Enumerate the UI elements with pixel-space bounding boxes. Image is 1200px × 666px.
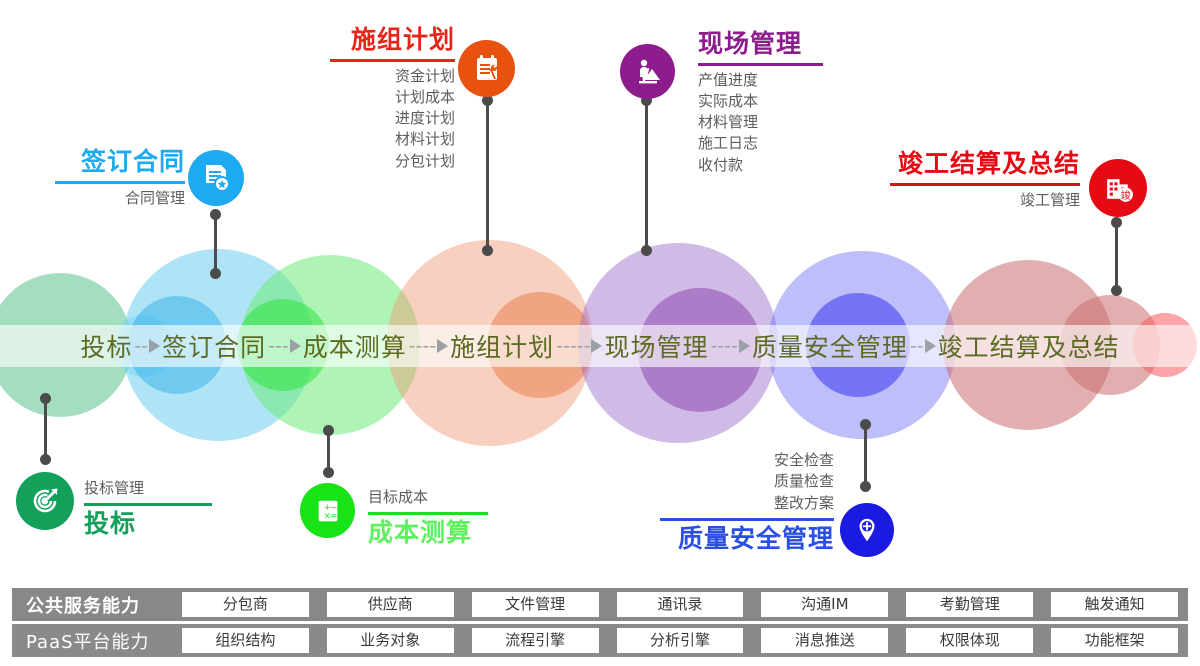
callout-contract[interactable]: 签订合同 合同管理: [55, 148, 185, 209]
callout-quality-items: 安全检查质量检查整改方案: [660, 450, 834, 514]
connector-dot-plan-bottom: [482, 245, 493, 256]
svg-text:竣: 竣: [1120, 188, 1130, 201]
capability-cell-1-1[interactable]: 业务对象: [327, 628, 454, 653]
contract-document-icon[interactable]: [188, 150, 244, 206]
capability-cell-0-3[interactable]: 通讯录: [617, 592, 744, 617]
callout-cost-rule: [368, 512, 488, 515]
callout-plan[interactable]: 施组计划 资金计划计划成本进度计划材料计划分包计划: [330, 26, 455, 172]
callout-quality-item-0: 安全检查: [660, 450, 834, 471]
infographic-canvas: 投标--签订合同---成本测算----施组计划-----现场管理----质量安全…: [0, 0, 1200, 666]
flow-arrow-0: --: [132, 335, 162, 357]
capability-cell-0-0[interactable]: 分包商: [182, 592, 309, 617]
capability-cells-1: 组织结构业务对象流程引擎分析引擎消息推送权限体现功能框架: [182, 628, 1188, 653]
connector-dot-bidding-bottom: [40, 454, 51, 465]
capability-cell-1-2[interactable]: 流程引擎: [472, 628, 599, 653]
callout-quality-item-2: 整改方案: [660, 493, 834, 514]
connector-line-cost: [327, 430, 330, 472]
callout-completion-title: 竣工结算及总结: [890, 150, 1080, 178]
callout-cost-sub: 目标成本: [368, 487, 488, 508]
flow-arrow-3: -----: [554, 335, 604, 357]
process-flow-row: 投标--签订合同---成本测算----施组计划-----现场管理----质量安全…: [0, 325, 1200, 367]
capability-row-label-1: PaaS平台能力: [12, 628, 182, 654]
flow-step-4[interactable]: 现场管理: [604, 328, 708, 364]
flow-step-1[interactable]: 签订合同: [162, 328, 266, 364]
callout-quality-item-1: 质量检查: [660, 471, 834, 492]
capability-cell-1-5[interactable]: 权限体现: [906, 628, 1033, 653]
capability-table: 公共服务能力分包商供应商文件管理通讯录沟通IM考勤管理触发通知PaaS平台能力组…: [12, 588, 1188, 660]
connector-dot-contract-bottom: [210, 268, 221, 279]
callout-plan-item-1: 计划成本: [330, 87, 455, 108]
flow-step-3[interactable]: 施组计划: [450, 328, 554, 364]
capability-cell-0-2[interactable]: 文件管理: [472, 592, 599, 617]
connector-line-bidding: [44, 398, 47, 460]
connector-dot-site-bottom: [641, 245, 652, 256]
callout-bidding-rule: [84, 503, 212, 506]
calculator-icon[interactable]: + − × =: [300, 483, 355, 538]
callout-site-rule: [698, 63, 823, 66]
callout-site-title: 现场管理: [698, 30, 823, 58]
connector-line-plan: [486, 100, 489, 252]
capability-row-label-0: 公共服务能力: [12, 592, 182, 618]
callout-site-item-1: 实际成本: [698, 91, 823, 112]
capability-cell-0-6[interactable]: 触发通知: [1051, 592, 1178, 617]
connector-line-completion: [1115, 222, 1118, 290]
connector-dot-completion-top: [1111, 217, 1122, 228]
flow-arrow-2: ----: [407, 335, 450, 357]
svg-text:=: =: [330, 510, 337, 520]
connector-dot-bidding-top: [40, 393, 51, 404]
worker-site-icon[interactable]: [620, 44, 675, 99]
capability-cell-0-5[interactable]: 考勤管理: [906, 592, 1033, 617]
callout-contract-item-0: 合同管理: [55, 188, 185, 209]
capability-cell-0-1[interactable]: 供应商: [327, 592, 454, 617]
flow-step-2[interactable]: 成本测算: [303, 328, 407, 364]
connector-line-contract: [214, 214, 217, 274]
callout-site-item-0: 产值进度: [698, 70, 823, 91]
connector-dot-quality-top: [860, 419, 871, 430]
callout-completion-item-0: 竣工管理: [890, 190, 1080, 211]
callout-site[interactable]: 现场管理 产值进度实际成本材料管理施工日志收付款: [698, 30, 823, 176]
callout-quality[interactable]: 安全检查质量检查整改方案 质量安全管理: [660, 450, 834, 552]
capability-cell-1-0[interactable]: 组织结构: [182, 628, 309, 653]
building-complete-icon[interactable]: 竣: [1089, 159, 1147, 217]
callout-quality-title: 质量安全管理: [660, 525, 834, 553]
connector-dot-cost-bottom: [323, 467, 334, 478]
flow-arrow-4: ----: [708, 335, 751, 357]
capability-cells-0: 分包商供应商文件管理通讯录沟通IM考勤管理触发通知: [182, 592, 1188, 617]
callout-plan-items: 资金计划计划成本进度计划材料计划分包计划: [330, 66, 455, 172]
target-dart-icon[interactable]: [16, 472, 74, 530]
flow-arrow-1: ---: [266, 335, 303, 357]
callout-contract-items: 合同管理: [55, 188, 185, 209]
connector-line-quality: [864, 424, 867, 486]
capability-cell-1-4[interactable]: 消息推送: [761, 628, 888, 653]
callout-bidding[interactable]: 投标管理 投标: [84, 478, 212, 538]
callout-completion[interactable]: 竣工结算及总结 竣工管理: [890, 150, 1080, 211]
capability-cell-1-3[interactable]: 分析引擎: [617, 628, 744, 653]
connector-dot-cost-top: [323, 425, 334, 436]
callout-quality-rule: [660, 518, 834, 521]
callout-site-item-3: 施工日志: [698, 133, 823, 154]
callout-bidding-title: 投标: [84, 510, 212, 538]
callout-plan-title: 施组计划: [330, 26, 455, 54]
capability-cell-0-4[interactable]: 沟通IM: [761, 592, 888, 617]
callout-plan-item-4: 分包计划: [330, 151, 455, 172]
callout-cost-title: 成本测算: [368, 519, 488, 547]
clipboard-wrench-icon[interactable]: [458, 40, 515, 97]
callout-site-items: 产值进度实际成本材料管理施工日志收付款: [698, 70, 823, 176]
callout-plan-rule: [330, 59, 455, 62]
callout-plan-item-3: 材料计划: [330, 129, 455, 150]
callout-completion-rule: [890, 183, 1080, 186]
callout-plan-item-0: 资金计划: [330, 66, 455, 87]
connector-line-site: [645, 100, 648, 252]
flow-step-0[interactable]: 投标: [80, 328, 132, 364]
capability-row-0: 公共服务能力分包商供应商文件管理通讯录沟通IM考勤管理触发通知: [12, 588, 1188, 621]
flow-step-6[interactable]: 竣工结算及总结: [938, 328, 1120, 364]
callout-site-item-4: 收付款: [698, 155, 823, 176]
callout-cost[interactable]: 目标成本 成本测算: [368, 487, 488, 547]
flow-arrow-5: --: [908, 335, 938, 357]
capability-row-1: PaaS平台能力组织结构业务对象流程引擎分析引擎消息推送权限体现功能框架: [12, 624, 1188, 657]
capability-cell-1-6[interactable]: 功能框架: [1051, 628, 1178, 653]
flow-step-5[interactable]: 质量安全管理: [752, 328, 908, 364]
callout-site-item-2: 材料管理: [698, 112, 823, 133]
callout-contract-rule: [55, 181, 185, 184]
callout-bidding-sub: 投标管理: [84, 478, 212, 499]
connector-dot-quality-bottom: [860, 481, 871, 492]
connector-dot-contract-top: [210, 209, 221, 220]
callout-completion-items: 竣工管理: [890, 190, 1080, 211]
callout-plan-item-2: 进度计划: [330, 108, 455, 129]
location-pin-cross-icon[interactable]: [840, 503, 894, 557]
callout-contract-title: 签订合同: [55, 148, 185, 176]
connector-dot-completion-bottom: [1111, 285, 1122, 296]
